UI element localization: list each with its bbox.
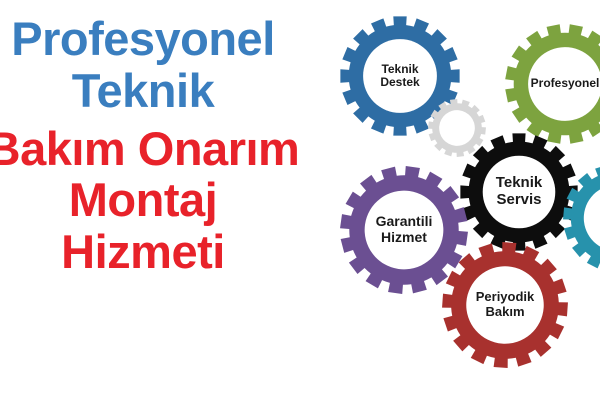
headline-line-4: Montaj xyxy=(0,175,308,225)
gear-periyodik-bakim[interactable]: PeriyodikBakım xyxy=(436,236,575,375)
gear-shape-periyodik-bakim xyxy=(436,236,575,375)
poster-canvas: Profesyonel Teknik Bakım Onarım Montaj H… xyxy=(0,0,600,400)
headline-line-1: Profesyonel xyxy=(0,14,308,64)
headline-line-3: Bakım Onarım xyxy=(0,124,308,174)
headline-line-2: Teknik xyxy=(0,66,308,116)
headline-line-5: Hizmeti xyxy=(0,227,308,277)
headline-block: Profesyonel Teknik Bakım Onarım Montaj H… xyxy=(0,14,308,277)
gear-cluster: TeknikDestekProfesyonelTeknikServisGaran… xyxy=(330,0,600,400)
